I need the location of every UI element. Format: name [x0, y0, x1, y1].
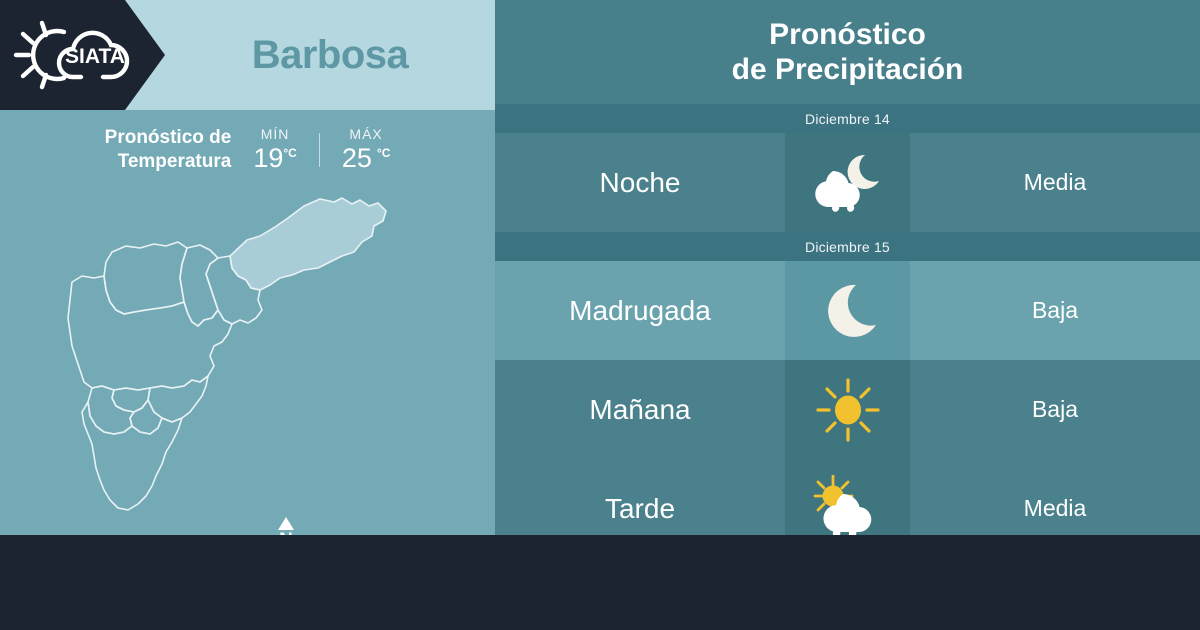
forecast-row-manana[interactable]: Mañana: [495, 360, 1200, 459]
forecast-period-manana: Mañana: [495, 360, 785, 459]
map-region-barbosa[interactable]: [230, 198, 386, 290]
temperature-min-value-wrap: 19°C: [253, 143, 297, 174]
forecast-period-noche: Noche: [495, 133, 785, 232]
forecast-row-madrugada[interactable]: Madrugada Baja: [495, 261, 1200, 360]
forecast-probability-noche: Media: [910, 133, 1200, 232]
weather-forecast-infographic: SIATA Barbosa Pronóstico de Temperatura …: [0, 0, 1200, 630]
temperature-min: MÍN 19°C: [253, 126, 297, 174]
temperature-title-line1: Pronóstico de: [105, 126, 232, 150]
sun-icon: [785, 360, 910, 459]
temperature-max-value-wrap: 25°C: [342, 143, 391, 174]
map-region-caldas[interactable]: [82, 402, 182, 510]
footer: @siatamedellin www.siata.gov.co Con el a…: [0, 535, 1200, 630]
sun-cloud-icon: SIATA: [12, 18, 130, 92]
forecast-row-noche[interactable]: Noche Media: [495, 133, 1200, 232]
moon-icon: [785, 261, 910, 360]
compass-arrow-icon: [278, 517, 294, 530]
aburra-valley-map-svg: [42, 190, 422, 535]
temperature-max: MÁX 25°C: [342, 126, 391, 174]
forecast-probability-madrugada: Baja: [910, 261, 1200, 360]
moon-rain-icon: [785, 133, 910, 232]
temperature-summary: Pronóstico de Temperatura MÍN 19°C MÁX 2…: [0, 110, 495, 190]
date-bar-dec14-label: Diciembre 14: [805, 111, 890, 127]
forecast-title: Pronóstico de Precipitación: [495, 0, 1200, 104]
temperature-separator: [319, 133, 320, 167]
map-region-medellin[interactable]: [68, 276, 232, 390]
temperature-title-line2: Temperatura: [105, 150, 232, 174]
forecast-title-line2: de Precipitación: [732, 52, 964, 87]
city-title: Barbosa: [165, 0, 495, 110]
left-panel: SIATA Barbosa Pronóstico de Temperatura …: [0, 0, 495, 535]
temperature-max-value: 25: [342, 143, 372, 173]
municipality-map[interactable]: N: [0, 190, 495, 535]
map-region-itagui[interactable]: [112, 388, 150, 412]
precipitation-forecast-panel: Pronóstico de Precipitación Diciembre 14…: [495, 0, 1200, 535]
left-header: SIATA Barbosa: [0, 0, 495, 110]
date-bar-dec15: Diciembre 15: [495, 232, 1200, 261]
map-region-copacabana[interactable]: [180, 245, 218, 326]
forecast-period-madrugada: Madrugada: [495, 261, 785, 360]
map-region-la-estrella[interactable]: [88, 386, 134, 434]
forecast-title-line1: Pronóstico: [769, 17, 926, 52]
forecast-probability-manana: Baja: [910, 360, 1200, 459]
map-region-bello[interactable]: [104, 242, 187, 314]
temperature-min-unit: °C: [283, 146, 296, 160]
temperature-max-unit: °C: [377, 146, 390, 160]
siata-logo-badge[interactable]: SIATA: [0, 0, 165, 110]
temperature-max-caption: MÁX: [342, 126, 391, 142]
temperature-title: Pronóstico de Temperatura: [105, 126, 232, 174]
temperature-min-value: 19: [253, 143, 283, 173]
date-bar-dec15-label: Diciembre 15: [805, 239, 890, 255]
logo-wordmark: SIATA: [65, 45, 125, 68]
temperature-min-caption: MÍN: [253, 126, 297, 142]
date-bar-dec14: Diciembre 14: [495, 104, 1200, 133]
